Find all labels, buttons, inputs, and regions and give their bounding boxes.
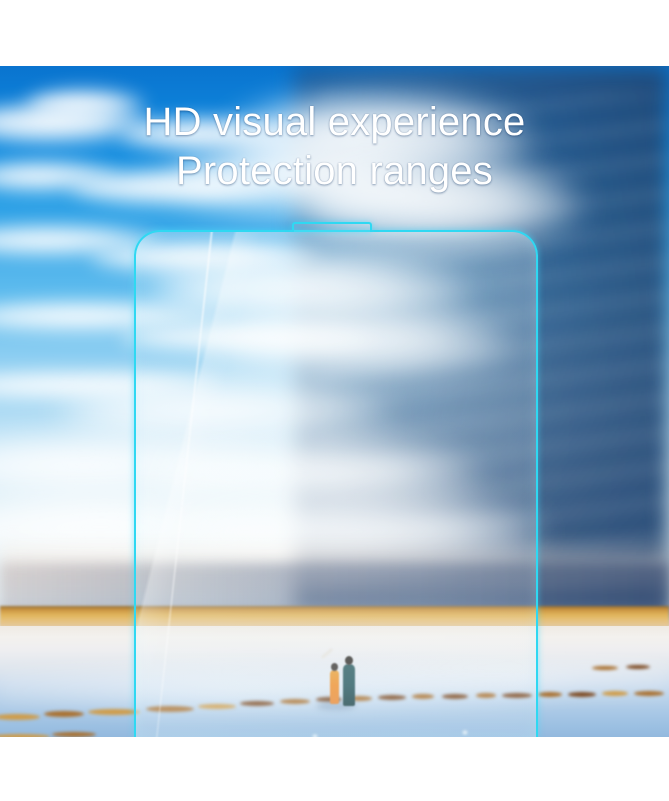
title-line-1: HD visual experience: [0, 98, 669, 147]
title-line-2: Protection ranges: [0, 147, 669, 196]
protector-glare: [136, 232, 536, 737]
page-title: HD visual experience Protection ranges: [0, 98, 669, 196]
screen-protector-overlay: [134, 230, 538, 737]
camera-notch-icon: [292, 222, 372, 232]
product-banner: HD visual experience Protection ranges: [0, 0, 669, 801]
